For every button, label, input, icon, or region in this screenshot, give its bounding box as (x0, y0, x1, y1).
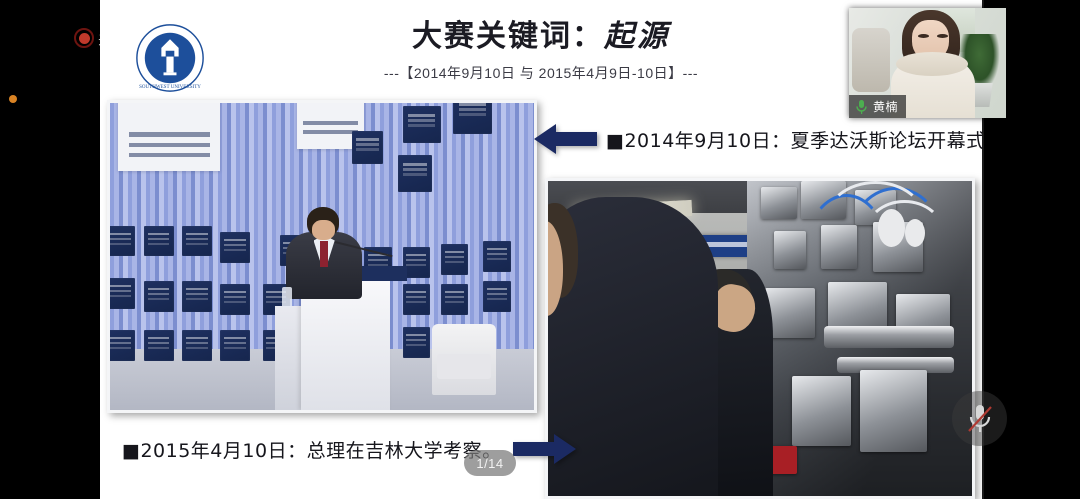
recording-dot (79, 33, 90, 44)
recording-indicator-icon (74, 28, 94, 48)
participant-video-tile[interactable]: 黄楠 (849, 8, 1006, 118)
wef-tile (441, 244, 469, 275)
microphone-muted-icon (965, 402, 995, 436)
title-accent: 起源 (604, 19, 670, 54)
photo-davos-forum (107, 100, 537, 413)
status-dot (9, 95, 17, 103)
wef-tile (453, 100, 491, 134)
page-indicator: 1/14 (464, 450, 516, 476)
arrow-left-icon (534, 122, 598, 156)
speaker-face (312, 220, 335, 240)
wef-tile (144, 330, 174, 361)
microphone-icon (855, 99, 868, 115)
wef-tile (107, 330, 135, 361)
wef-tile (182, 226, 212, 257)
wef-banner-white (118, 100, 220, 171)
wef-tile (144, 226, 174, 257)
wef-tile (182, 281, 212, 312)
photo-lab-inspection (545, 178, 975, 499)
wef-tile (144, 281, 174, 312)
title-main: 大赛关键词： (412, 19, 604, 54)
wef-tile (182, 330, 212, 361)
participant-name-bar: 黄楠 (849, 95, 906, 118)
page-title: 大赛关键词：起源 (412, 18, 670, 56)
participant-name: 黄楠 (873, 98, 898, 115)
wef-tile (403, 327, 431, 358)
arrow-right-icon (512, 432, 576, 466)
southwest-university-logo: SOUTHWEST UNIVERSITY (134, 22, 206, 94)
camera-chair (852, 28, 890, 92)
water-bottle (282, 287, 292, 307)
wef-tile (398, 155, 432, 192)
microphone-mute-button[interactable] (952, 391, 1007, 446)
wef-tile (403, 106, 441, 143)
speaker-tie (320, 241, 327, 267)
wef-tile (107, 226, 135, 257)
wef-tile (403, 284, 431, 315)
wef-tile (441, 284, 469, 315)
annotation-davos-text: ■2014年9月10日：夏季达沃斯论坛开幕式。 (606, 126, 982, 153)
annotation-davos: ■2014年9月10日：夏季达沃斯论坛开幕式。 (534, 122, 982, 156)
white-armchair (432, 324, 496, 395)
wef-tile (220, 232, 250, 263)
industrial-machine (747, 181, 972, 496)
annotation-jilin-text: ■2015年4月10日：总理在吉林大学考察。 (122, 436, 502, 463)
wef-tile (220, 284, 250, 315)
wef-tile (483, 241, 511, 272)
wef-tile (107, 278, 135, 309)
meeting-screen-share-view: 录制中 SOUTHWEST UNIVERSITY 大赛关键词：起源 ---【20… (0, 0, 1080, 499)
svg-text:SOUTHWEST UNIVERSITY: SOUTHWEST UNIVERSITY (139, 84, 201, 90)
wef-tile (220, 330, 250, 361)
wef-tile (352, 131, 384, 165)
wef-tile (483, 281, 511, 312)
